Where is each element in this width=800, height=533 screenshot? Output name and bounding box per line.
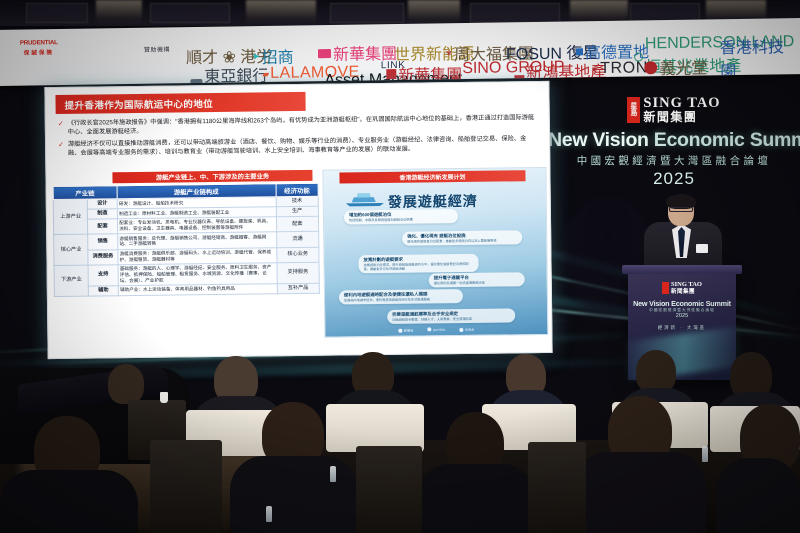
singtao-name-cn: 新聞集團 — [643, 111, 720, 124]
audience-shoulders — [416, 464, 536, 533]
infographic-footer: 發展局 gov.hk/tc 中央台 — [325, 326, 547, 334]
audience-chair[interactable] — [326, 404, 424, 452]
cell-func: 支持服务 — [277, 262, 320, 284]
item-body: 加強與內地城市協作，便利粵港澳遊艇自由行及多式聯運服務 — [344, 297, 458, 302]
footer-item: 發展局 — [398, 328, 413, 333]
podium-event-en: New Vision Economic Summit — [628, 299, 736, 308]
cell-desc: 基础服务：游艇的人、心理学、游艇经纪、安全服务、原料卫生服务、资产评估、抵押保险… — [118, 262, 277, 285]
event-title-cn: 中國宏觀經濟暨大灣區融合論壇 — [548, 153, 800, 168]
item-body: 優化預約及通關一站式處理服務流程 — [434, 280, 520, 285]
water-bottle[interactable] — [702, 446, 708, 462]
podium-singtao-mark-icon — [662, 282, 669, 294]
bullet-item: ✓ 《行政长官2025年施政报告》中强调："香港拥有1180公里海岸线和263个… — [58, 114, 538, 138]
bullet-item: ✓ 游艇经济不仅可以直接推动游艇消费，还可以带动高端旅游业（酒店、餐饮、购物、娱… — [58, 135, 538, 159]
cell-chain: 上游产业 — [53, 199, 88, 235]
cell-func: 技术 — [276, 196, 319, 207]
presentation-slide: 提升香港作为国际航运中心的地位 ✓ 《行政长官2025年施政报告》中强调："香港… — [47, 84, 549, 356]
podium-org-en: SING TAO — [671, 282, 702, 289]
cell-func: 生产 — [276, 206, 319, 217]
wechat-icon — [459, 327, 463, 331]
event-branding: 星島 SING TAO 新聞集團 New Vision Economic Sum… — [548, 96, 800, 189]
sponsor-mark-pink — [318, 49, 331, 58]
bullet-text: 游艇经济不仅可以直接推动游艇消费，还可以带动高端旅游业（酒店、餐饮、购物、娱乐等… — [68, 135, 538, 159]
infographic-header: 香港游艇经济新发展计划 — [339, 170, 525, 183]
sponsor-logo-winglung: 義光堂 — [659, 54, 707, 79]
cell-func: 配套 — [276, 217, 319, 233]
cell-stage: 销售 — [88, 234, 117, 249]
infographic-item: 強化、優化現有 遊艇泊位設施 優化現有遊艇會泊位配套，推動更多遊艇泊位以及上蓋發… — [402, 230, 522, 245]
yacht-economy-infographic: 香港游艇经济新发展计划 發展遊艇經濟 增加約600個遊艇泊位 包括短期、中期及長… — [322, 167, 548, 338]
cell-stage: 支持 — [88, 264, 117, 285]
cell-stage: 辅助 — [89, 285, 118, 295]
sponsor-logo-shk-sub: SUN HUNG KAI PROPERTIES — [526, 80, 749, 86]
slide-sub-banner-text: 游艇产业链上、中、下游涉及的主要业务 — [156, 171, 269, 181]
sponsor-mark-red — [386, 69, 396, 79]
event-year: 2025 — [548, 169, 800, 189]
podium-top — [622, 265, 742, 274]
item-body: 加強遊艇安全監管、訓練人才、人員專業、安全管理制度 — [392, 316, 510, 321]
water-bottle[interactable] — [330, 466, 336, 482]
audience-shoulders — [574, 452, 706, 533]
audience-chair[interactable] — [356, 446, 422, 533]
lalamove-mark-icon: ▰ — [262, 68, 269, 79]
speaker-name-badge — [696, 244, 708, 253]
audience-shoulders — [0, 470, 138, 533]
singtao-logo: 星島 SING TAO 新聞集團 — [548, 96, 800, 124]
slide-title-bar: 提升香港作为国际航运中心的地位 — [55, 92, 305, 114]
paper-cup[interactable] — [160, 392, 168, 403]
infographic-item: 增加約600個遊艇泊位 包括短期、中期及長期措施增加遊艇泊位供應 — [344, 209, 458, 224]
globe-icon — [427, 327, 431, 331]
cell-func: 流通 — [276, 232, 319, 248]
sponsor-banner: PRUDENTIAL 保誠保險 贊助機構 順才 ❀ 港労 ➤ 招商 新華集團 世… — [0, 18, 800, 86]
facebook-icon — [398, 328, 402, 332]
cell-desc: 辅助产业：水上运动装备、体育用品器材、钓鱼钓具用品 — [118, 283, 277, 295]
infographic-item: 放寬計劃的遊艇要求 放寬遊艇泊位需求，提升遊艇旅遊業便利水平，優化簡化遊艇登記及… — [358, 254, 478, 273]
industry-chain-table: 产业链 游艇产业链构成 经济功能 上游产业 设计 研发：游艇设计、船舶技术研究 … — [53, 183, 320, 297]
table-header-function: 经济功能 — [276, 183, 319, 197]
slide-bullets: ✓ 《行政长官2025年施政报告》中强调："香港拥有1180公里海岸线和263个… — [58, 114, 538, 162]
infographic-item: 便利內地遊艇適時配合及便捷往還私人碼頭 加強與內地城市協作，便利粵港澳遊艇自由行… — [339, 289, 463, 304]
event-title-en: New Vision Economic Summit — [548, 129, 800, 152]
cell-stage: 消费服务 — [88, 249, 117, 264]
projection-screen: 提升香港作为国际航运中心的地位 ✓ 《行政长官2025年施政报告》中强调："香港… — [44, 81, 552, 359]
slide-title: 提升香港作为国际航运中心的地位 — [64, 96, 213, 112]
slide-sub-banner: 游艇产业链上、中、下游涉及的主要业务 — [112, 170, 312, 183]
sponsor-logo-hkstp: HKSTP — [720, 81, 798, 86]
swoosh-icon: ➤ — [252, 51, 260, 62]
item-body: 優化現有遊艇會泊位配套，推動更多遊艇泊位以及上蓋發展用途 — [407, 238, 517, 243]
singtao-mark-icon: 星島 — [627, 97, 640, 123]
podium-signage: SING TAO 新聞集團 New Vision Economic Summit… — [628, 282, 736, 331]
sponsor-section-label: 贊助機構 — [144, 44, 170, 53]
sponsor-mark-blue — [576, 48, 583, 55]
sponsor-mark-circle-red — [644, 61, 657, 74]
audience-chair[interactable] — [150, 440, 222, 533]
chandelier-icon — [246, 0, 316, 26]
podium-tagline: 經濟新 · 大灣區 — [628, 325, 736, 331]
speaker-glasses-icon — [669, 207, 693, 212]
cell-func: 核心业务 — [276, 247, 319, 263]
bullet-text: 《行政长官2025年施政报告》中强调："香港拥有1180公里海岸线和263个岛屿… — [68, 114, 538, 138]
table-row: 辅助 辅助产业：水上运动装备、体育用品器材、钓鱼钓具用品 互补产品 — [54, 283, 319, 296]
cell-stage: 设计 — [88, 199, 117, 209]
chandelier-icon — [408, 0, 460, 26]
sponsor-logo-prudential: PRUDENTIAL 保誠保險 — [20, 39, 58, 57]
chandelier-icon — [96, 0, 142, 26]
water-bottle[interactable] — [266, 506, 272, 522]
cell-chain: 核心产业 — [54, 234, 89, 265]
sponsor-logo-tron: TRON — [600, 59, 648, 78]
flower-icon: ✾ — [446, 49, 452, 57]
audience-chair[interactable] — [528, 442, 586, 533]
audience-head — [108, 364, 144, 404]
podium-singtao-logo: SING TAO 新聞集團 — [628, 282, 736, 295]
tron-mark-icon: ▼ — [590, 65, 598, 74]
podium-year: 2025 — [628, 313, 736, 319]
infographic-item: 完善遊艇適航標準及合乎安全規定 加強遊艇安全監管、訓練人才、人員專業、安全管理制… — [387, 308, 515, 323]
item-body: 放寬遊艇泊位需求，提升遊艇旅遊業便利水平，優化簡化遊艇登記及牌照制度，推動更多元… — [364, 262, 474, 271]
singtao-name-en: SING TAO — [643, 96, 720, 111]
cell-stage: 配套 — [88, 219, 117, 234]
cell-chain: 下游产业 — [54, 265, 89, 296]
check-icon: ✓ — [58, 141, 64, 159]
cell-stage: 制造 — [88, 209, 117, 219]
yacht-icon — [344, 191, 388, 208]
infographic-item: 提升電子通關平台 優化預約及通關一站式處理服務流程 — [429, 272, 525, 287]
audience-shoulders — [230, 456, 358, 533]
item-body: 包括短期、中期及長期措施增加遊艇泊位供應 — [349, 217, 453, 222]
conference-photo: PRUDENTIAL 保誠保險 贊助機構 順才 ❀ 港労 ➤ 招商 新華集團 世… — [0, 0, 800, 533]
infographic-header-text: 香港游艇经济新发展计划 — [399, 172, 465, 182]
podium-org-cn: 新聞集團 — [671, 289, 702, 295]
table-header-chain: 产业链 — [53, 186, 117, 200]
footer-item: 中央台 — [459, 327, 474, 332]
footer-item: gov.hk/tc — [427, 327, 445, 332]
check-icon: ✓ — [58, 120, 64, 138]
cell-func: 互补产品 — [277, 283, 320, 294]
audience-shoulders — [716, 458, 800, 533]
